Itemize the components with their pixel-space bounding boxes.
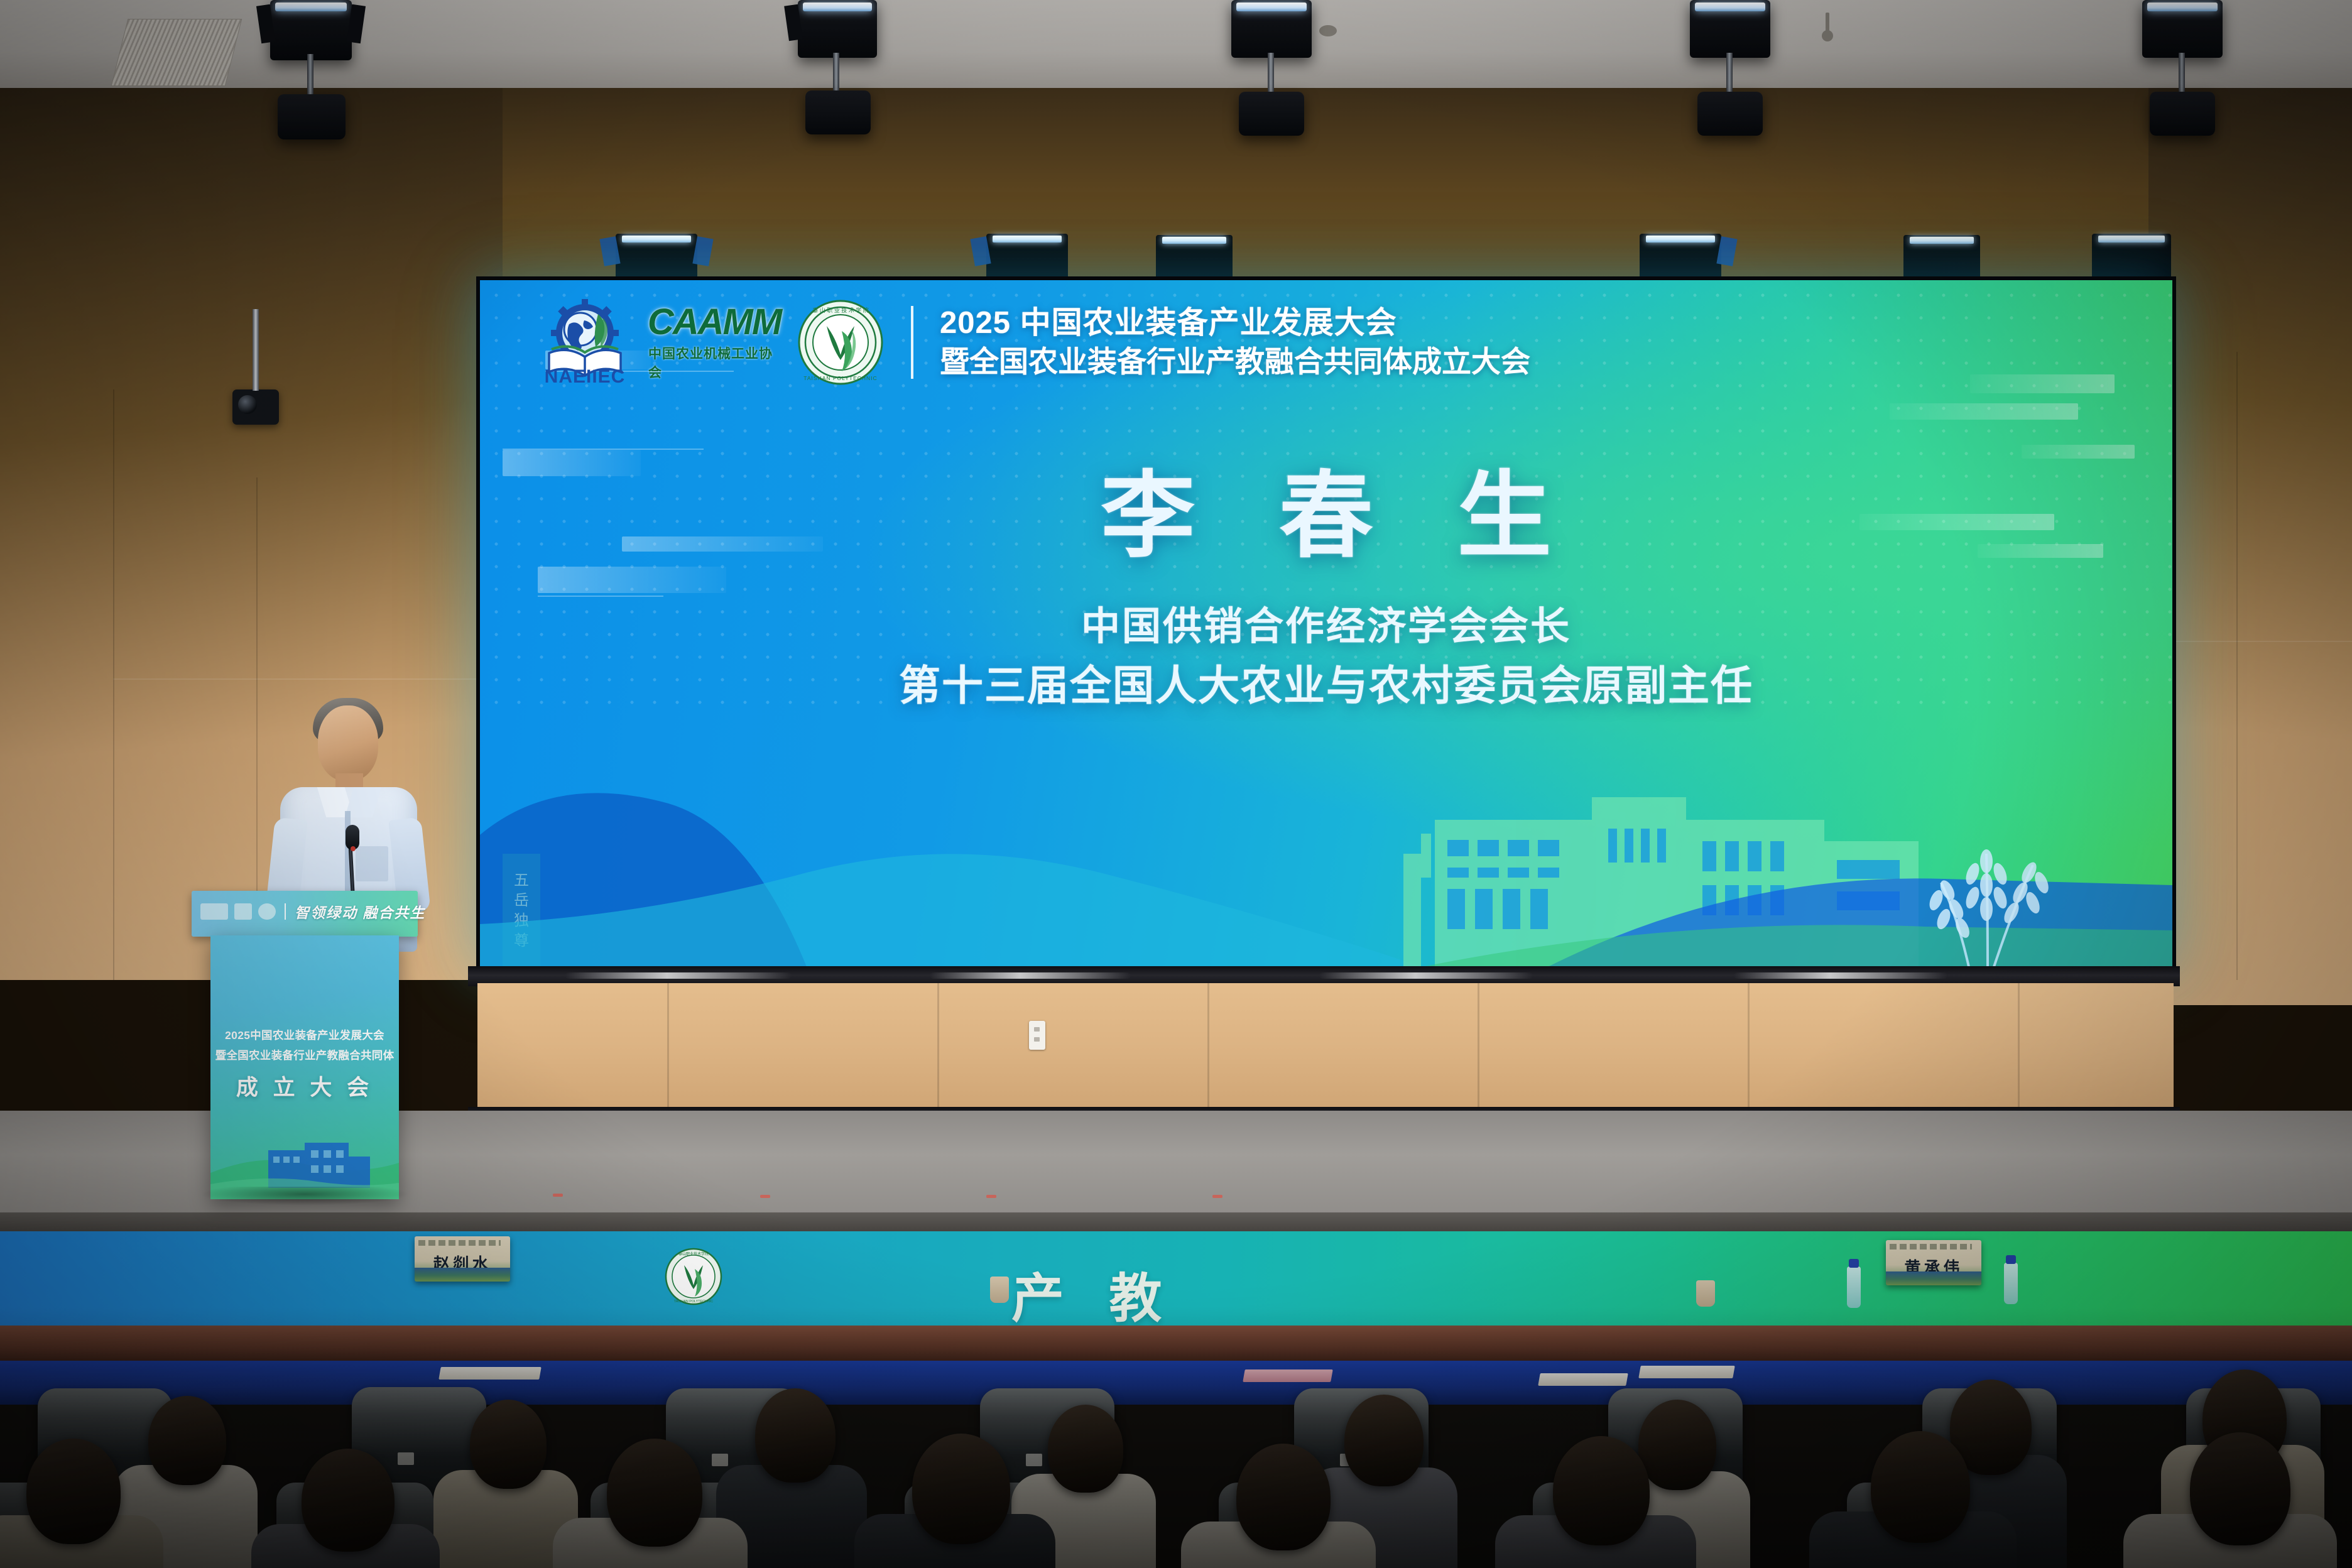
name-card-header-strip [418,1240,501,1246]
taishan-polytechnic-logo: 泰 山 职 业 技 术 学 院 TAISHAN POLYTECHNIC [797,298,885,386]
bottle-cap [2006,1255,2016,1264]
light-lens [1910,237,1974,244]
wall-seam [113,678,503,680]
podium-line1: 2025中国农业装备产业发展大会 [210,1027,399,1043]
caamm-logo: CAAMM 中国农业机械工业协会 [648,307,780,378]
stage-light [2150,92,2215,136]
stage-light [1697,92,1763,136]
svg-text:NAEIIEC: NAEIIEC [545,366,626,387]
head-table-front [0,1326,2352,1363]
wall-seam [937,983,939,1112]
naeiiec-logo-small [234,903,252,920]
decorative-line [503,449,704,450]
light-lens [993,236,1061,242]
head-table-banner-text: 产 教 [1011,1256,1177,1332]
svg-text:岳: 岳 [514,892,529,909]
taishan-logo-banner: 泰山职业技术学院 TAISHAN POLYTECHNIC [663,1246,724,1307]
screen-top-light [1156,235,1233,279]
trim-highlight [565,972,792,979]
trim-highlight [1734,972,1947,979]
wall-below-screen [477,983,2174,1112]
floor-marker [1212,1195,1222,1198]
name-card-header-strip [1890,1244,1972,1249]
svg-text:TAISHAN POLYTECHNIC: TAISHAN POLYTECHNIC [674,1300,714,1304]
decorative-bar [538,567,726,593]
floor-marker [553,1194,563,1197]
ceiling-fixture-dot [1826,13,1829,33]
name-card: 赵剡水 [415,1236,510,1282]
podium-top-content: 智领绿动 融合共生 [200,901,425,922]
naeiiec-logo: NAEIIEC [538,295,632,389]
water-bottle [2004,1263,2018,1304]
light-lens [1162,237,1226,244]
wall-seam [2236,352,2238,980]
attendee-head [1553,1436,1650,1545]
wall-seam [1478,983,1479,1112]
caamm-logo-small [200,903,228,920]
shirt-pocket [356,846,388,881]
light-lens [1236,3,1307,11]
stage-light [1690,0,1770,58]
attendee-head [912,1434,1010,1544]
stage-light [270,0,352,60]
screen-top-light [1903,235,1980,279]
trim-highlight [1319,972,1533,979]
name-card-artwork [415,1268,510,1282]
name-card-artwork [1886,1271,1981,1285]
seat-number-tag [398,1452,414,1465]
conference-title-line2: 暨全国农业装备行业产教融合共同体成立大会 [940,344,1530,379]
speaker-name: 李 春 生 [480,469,2172,563]
header-text: 2025 中国农业装备产业发展大会 暨全国农业装备行业产教融合共同体成立大会 [940,305,1530,379]
attendee-head [2190,1432,2290,1545]
stage-light [278,94,346,139]
decorative-bar [1970,374,2115,393]
light-lens [1695,3,1766,11]
paper-cup [1696,1280,1715,1307]
ceiling-fixture-dot [1319,25,1337,36]
document-papers [438,1367,542,1380]
attendee-head [470,1400,547,1489]
attendee-head [26,1439,121,1544]
svg-text:泰山职业技术学院: 泰山职业技术学院 [678,1251,709,1256]
screen-header: NAEIIEC CAAMM 中国农业机械工业协会 泰 山 职 业 技 [538,295,1530,389]
caamm-acronym: CAAMM [648,304,781,340]
wall-seam [1748,983,1750,1112]
document-papers [1538,1373,1628,1386]
microphone-indicator [351,846,356,851]
svg-text:五: 五 [514,872,529,889]
bottle-cap [1849,1259,1859,1268]
conference-photo: NAEIIEC CAAMM 中国农业机械工业协会 泰 山 职 业 技 [0,0,2352,1568]
attendee-head [1344,1395,1424,1486]
stage-light [2142,0,2223,58]
speaker-title-line2: 第十三届全国人大农业与农村委员会原副主任 [480,652,2172,712]
taishan-logo-small [258,903,276,920]
light-lens [803,3,873,11]
podium: 2025中国农业装备产业发展大会 暨全国农业装备行业产教融合共同体 成 立 大 … [210,935,399,1199]
light-lens [2098,236,2165,242]
head [318,705,378,781]
header-divider [911,306,913,379]
trim-highlight [930,972,1131,979]
screen-top-light [616,234,697,280]
attendee-head [1048,1405,1123,1493]
wall-seam [1207,983,1209,1112]
wall-seam [113,389,114,980]
podium-top-panel: 智领绿动 融合共生 [192,891,418,937]
light-lens [622,236,690,242]
paper-cup [990,1277,1009,1303]
wall-seam [2018,983,2020,1112]
svg-text:TAISHAN POLYTECHNIC: TAISHAN POLYTECHNIC [803,375,877,381]
stage-light [1239,92,1304,136]
document-papers [1638,1366,1735,1378]
light-lens [2147,3,2218,11]
screen-top-light [2092,234,2171,279]
podium-slogan: 智领绿动 融合共生 [295,901,425,922]
stage-light [805,90,871,134]
document-papers [1243,1369,1333,1382]
podium-line3: 成 立 大 会 [210,1070,399,1102]
attendee-head [1236,1444,1331,1550]
svg-text:泰 山 职 业 技 术 学 院: 泰 山 职 业 技 术 学 院 [812,307,869,313]
audience-area: 泰山职业技术学院 TAISHAN POLYTECHNIC 产 教 赵剡水 黄承伟 [0,1231,2352,1568]
attendee-head [1871,1431,1970,1543]
floor-marker [986,1195,996,1198]
decorative-bar [2022,445,2135,459]
ceiling-air-vent [111,19,242,86]
attendee-head [148,1396,226,1485]
screen-scenery: 五 岳 独 尊 [480,759,2172,967]
led-screen: NAEIIEC CAAMM 中国农业机械工业协会 泰 山 职 业 技 [480,280,2172,967]
speaker-title-line1: 中国供销合作经济学会会长 [480,594,2172,651]
light-lens [1646,236,1714,242]
podium-shadow [200,1187,410,1206]
stage-light [798,0,877,58]
head-table-banner: 泰山职业技术学院 TAISHAN POLYTECHNIC 产 教 [0,1231,2352,1326]
caamm-subtitle: 中国农业机械工业协会 [648,344,780,381]
conference-title-line1: 2025 中国农业装备产业发展大会 [940,305,1530,342]
wall-seam [667,983,669,1112]
attendee-head [755,1388,836,1483]
water-bottle [1847,1266,1861,1308]
floor-marker [760,1195,770,1198]
attendee-head [607,1439,702,1547]
screen-top-light [986,234,1068,280]
light-lens [275,3,347,11]
podium-divider [285,903,286,920]
attendee-head [302,1449,395,1552]
attendee-head [1638,1400,1716,1490]
ptz-camera [232,389,279,425]
podium-line2: 暨全国农业装备行业产教融合共同体 [210,1047,399,1063]
camera-mount-stem [253,309,259,391]
screen-top-light [1640,234,1721,280]
name-card: 黄承伟 [1886,1240,1981,1285]
seat-number-tag [712,1454,728,1466]
wall-seam [2148,641,2352,642]
seat-number-tag [1026,1454,1042,1466]
right-wall-panel [2148,88,2352,1005]
left-wall-panel [0,88,503,980]
stage-light [1231,0,1312,58]
decorative-bar [1890,403,2078,420]
power-outlet [1029,1021,1045,1050]
